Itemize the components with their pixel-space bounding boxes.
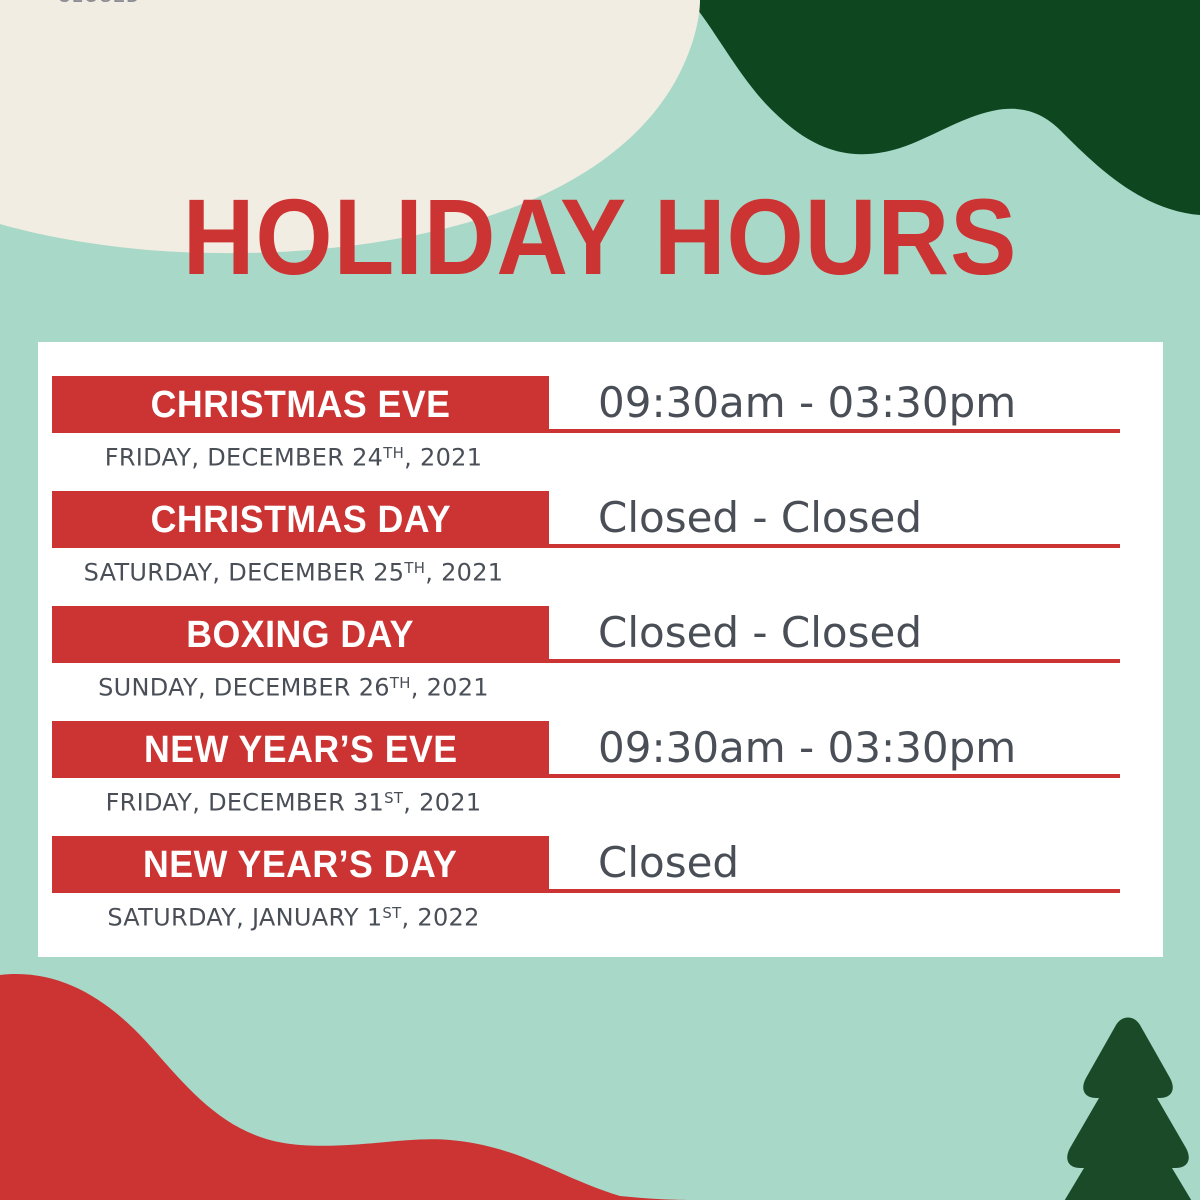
table-row: CHRISTMAS EVE 09:30am - 03:30pm FRIDAY, … [38,376,1163,491]
holiday-date-suffix: , 2021 [404,444,482,472]
holiday-date: SATURDAY, JANUARY 1ST, 2022 [38,898,549,933]
holiday-banner: CHRISTMAS EVE [52,376,549,433]
holiday-banner: CHRISTMAS DAY [52,491,549,548]
holiday-hours-value: 09:30am - 03:30pm [598,719,1016,776]
holiday-hours-poster: CLOSED HOLIDAY HOURS CHRISTMAS EVE 09:30… [0,0,1200,1200]
holiday-banner: NEW YEAR’S EVE [52,721,549,778]
holiday-date-ordinal: ST [382,904,401,922]
page-title: HOLIDAY HOURS [48,182,1152,292]
holiday-date-ordinal: ST [384,789,403,807]
holiday-date-ordinal: TH [404,559,425,577]
holiday-name: NEW YEAR’S EVE [144,730,458,770]
holiday-banner: NEW YEAR’S DAY [52,836,549,893]
holiday-banner: BOXING DAY [52,606,549,663]
holiday-date: FRIDAY, DECEMBER 31ST, 2021 [38,783,549,818]
top-clipped-text: CLOSED [58,0,141,7]
holiday-name: CHRISTMAS DAY [150,500,451,540]
schedule-card: CHRISTMAS EVE 09:30am - 03:30pm FRIDAY, … [38,342,1163,957]
holiday-date-prefix: FRIDAY, DECEMBER 24 [105,444,384,472]
holiday-date-suffix: , 2021 [411,674,489,702]
holiday-date-prefix: FRIDAY, DECEMBER 31 [106,789,385,817]
holiday-date: SUNDAY, DECEMBER 26TH, 2021 [38,668,549,703]
holiday-date-ordinal: TH [383,444,404,462]
holiday-name: CHRISTMAS EVE [151,385,451,425]
holiday-date: FRIDAY, DECEMBER 24TH, 2021 [38,438,549,473]
table-row: NEW YEAR’S EVE 09:30am - 03:30pm FRIDAY,… [38,721,1163,836]
holiday-date-suffix: , 2022 [402,904,480,932]
holiday-date-ordinal: TH [390,674,411,692]
table-row: CHRISTMAS DAY Closed - Closed SATURDAY, … [38,491,1163,606]
holiday-name: NEW YEAR’S DAY [143,845,457,885]
table-row: NEW YEAR’S DAY Closed SATURDAY, JANUARY … [38,836,1163,951]
holiday-hours-value: 09:30am - 03:30pm [598,374,1016,431]
schedule-rows: CHRISTMAS EVE 09:30am - 03:30pm FRIDAY, … [38,342,1163,957]
holiday-hours-value: Closed - Closed [598,489,922,546]
holiday-date-prefix: SUNDAY, DECEMBER 26 [98,674,390,702]
holiday-name: BOXING DAY [187,615,415,655]
holiday-date: SATURDAY, DECEMBER 25TH, 2021 [38,553,549,588]
holiday-hours-value: Closed [598,834,739,891]
holiday-date-suffix: , 2021 [403,789,481,817]
holiday-date-suffix: , 2021 [425,559,503,587]
holiday-date-prefix: SATURDAY, DECEMBER 25 [84,559,405,587]
holiday-date-prefix: SATURDAY, JANUARY 1 [107,904,382,932]
table-row: BOXING DAY Closed - Closed SUNDAY, DECEM… [38,606,1163,721]
holiday-hours-value: Closed - Closed [598,604,922,661]
